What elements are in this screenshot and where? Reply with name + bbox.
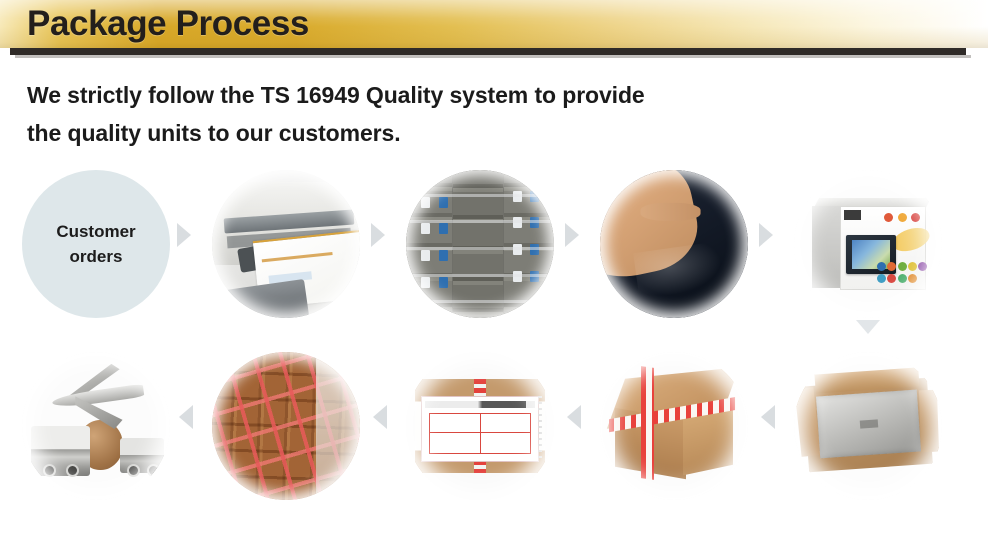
strapping-photo <box>600 352 748 500</box>
arrow-right-icon-1 <box>177 223 191 247</box>
customer-orders-label-line-2: orders <box>22 244 170 269</box>
flow-node-antistatic-bagging[interactable] <box>600 170 748 318</box>
arrow-down-icon <box>856 320 880 334</box>
flow-node-label-printing[interactable] <box>212 170 360 318</box>
label-printing-photo <box>212 170 360 318</box>
process-flow: Customer orders <box>0 160 988 551</box>
carton-stacking-photo <box>406 170 554 318</box>
flow-node-waybill-labeling[interactable] <box>406 352 554 500</box>
customer-orders-label-line-1: Customer <box>22 219 170 244</box>
flow-node-unit-packing[interactable] <box>794 352 942 500</box>
flow-node-palletizing[interactable] <box>212 352 360 500</box>
flow-node-customer-orders[interactable]: Customer orders <box>22 170 170 318</box>
arrow-right-icon-4 <box>759 223 773 247</box>
intro-line-1: We strictly follow the TS 16949 Quality … <box>27 76 887 114</box>
retail-boxing-photo <box>794 170 942 318</box>
page-title: Package Process <box>27 2 309 46</box>
waybill-labeling-photo <box>406 352 554 500</box>
palletizing-photo <box>212 352 360 500</box>
customer-orders-label: Customer orders <box>22 219 170 269</box>
arrow-left-icon-2 <box>373 405 387 429</box>
intro-paragraph: We strictly follow the TS 16949 Quality … <box>27 76 887 152</box>
arrow-right-icon-2 <box>371 223 385 247</box>
flow-node-strapping[interactable] <box>600 352 748 500</box>
unit-packing-photo <box>794 352 942 500</box>
antistatic-bagging-photo <box>600 170 748 318</box>
flow-node-retail-boxing[interactable] <box>794 170 942 318</box>
package-process-infographic: Package Process We strictly follow the T… <box>0 0 988 551</box>
intro-line-2: the quality units to our customers. <box>27 114 887 152</box>
freight-shipping-photo <box>22 352 170 500</box>
header-bar: Package Process <box>0 0 988 48</box>
header-divider <box>10 48 966 55</box>
flow-node-freight-shipping[interactable] <box>22 352 170 500</box>
flow-node-carton-stacking[interactable] <box>406 170 554 318</box>
arrow-left-icon-1 <box>179 405 193 429</box>
arrow-left-icon-3 <box>567 405 581 429</box>
arrow-right-icon-3 <box>565 223 579 247</box>
arrow-left-icon-4 <box>761 405 775 429</box>
